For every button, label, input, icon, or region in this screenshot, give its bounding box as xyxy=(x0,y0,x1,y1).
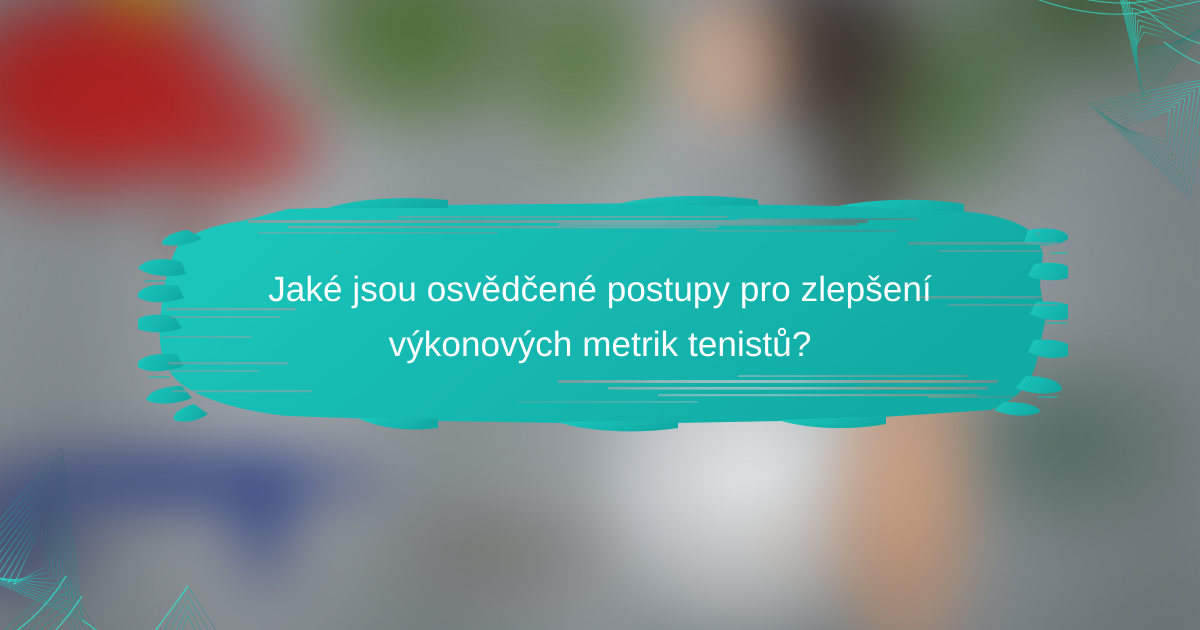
share-card: Jaké jsou osvědčené postupy pro zlepšení… xyxy=(0,0,1200,630)
headline: Jaké jsou osvědčené postupy pro zlepšení… xyxy=(200,262,1000,372)
headline-line-2: výkonových metrik tenistů? xyxy=(200,317,1000,372)
headline-line-1: Jaké jsou osvědčené postupy pro zlepšení xyxy=(200,262,1000,317)
